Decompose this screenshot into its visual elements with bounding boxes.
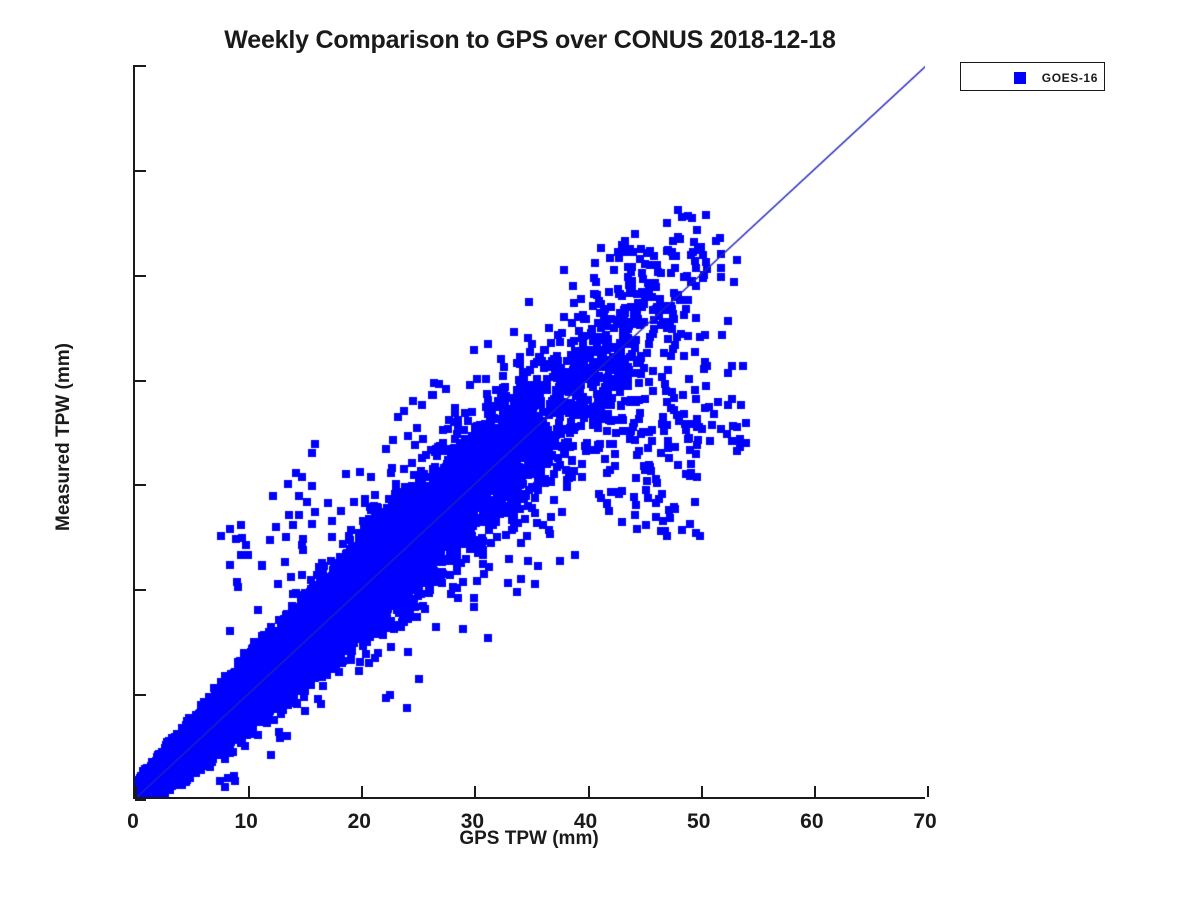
plot-area xyxy=(133,65,925,799)
x-axis-title: GPS TPW (mm) xyxy=(133,828,925,850)
scatter-canvas xyxy=(135,65,925,797)
legend-box[interactable]: GOES-16 xyxy=(960,62,1105,91)
y-tick xyxy=(135,589,146,591)
x-tick xyxy=(361,786,363,797)
chart-title: Weekly Comparison to GPS over CONUS 2018… xyxy=(0,26,1060,55)
legend-item-label: GOES-16 xyxy=(961,63,1098,92)
y-tick xyxy=(135,484,146,486)
x-tick xyxy=(814,786,816,797)
y-tick xyxy=(135,170,146,172)
figure-container: Weekly Comparison to GPS over CONUS 2018… xyxy=(0,0,1200,900)
y-tick xyxy=(135,275,146,277)
x-tick xyxy=(248,786,250,797)
x-tick xyxy=(474,786,476,797)
y-axis-title: Measured TPW (mm) xyxy=(53,137,75,737)
x-tick xyxy=(135,786,137,797)
y-tick xyxy=(135,799,146,801)
scatter-layer xyxy=(135,65,925,797)
x-tick xyxy=(588,786,590,797)
x-tick xyxy=(927,786,929,797)
x-tick xyxy=(701,786,703,797)
y-tick xyxy=(135,380,146,382)
y-tick xyxy=(135,694,146,696)
y-tick xyxy=(135,65,146,67)
